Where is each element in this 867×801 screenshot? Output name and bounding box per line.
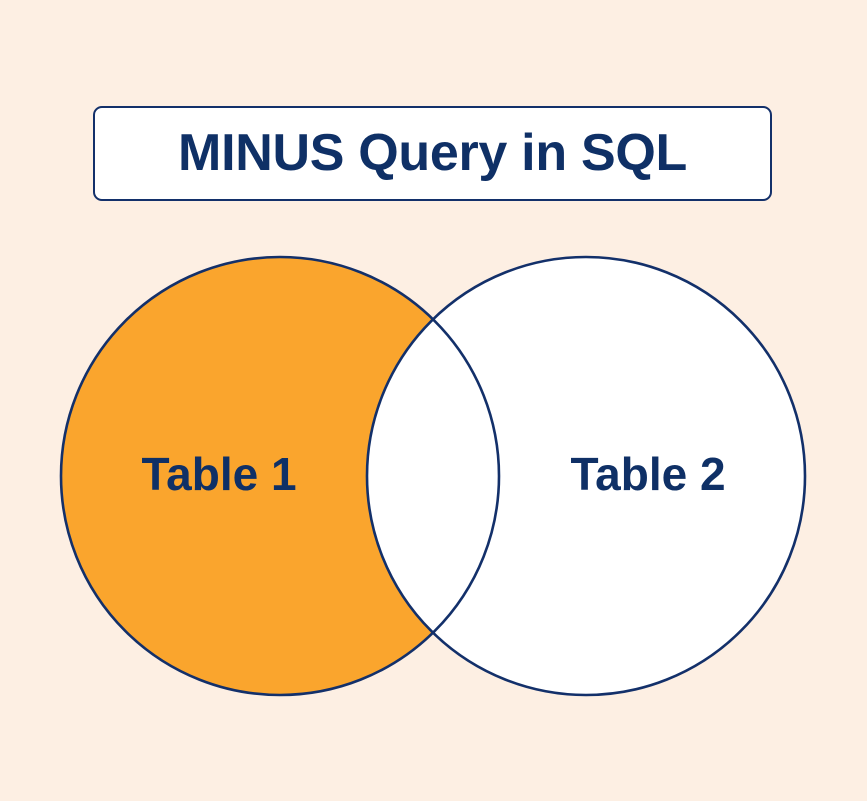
venn-diagram: Table 1 Table 2 — [0, 0, 867, 801]
diagram-canvas: MINUS Query in SQL — [0, 0, 867, 801]
set-label-table-2: Table 2 — [570, 448, 725, 500]
set-label-table-1: Table 1 — [141, 448, 296, 500]
venn-svg: Table 1 Table 2 — [0, 0, 867, 801]
